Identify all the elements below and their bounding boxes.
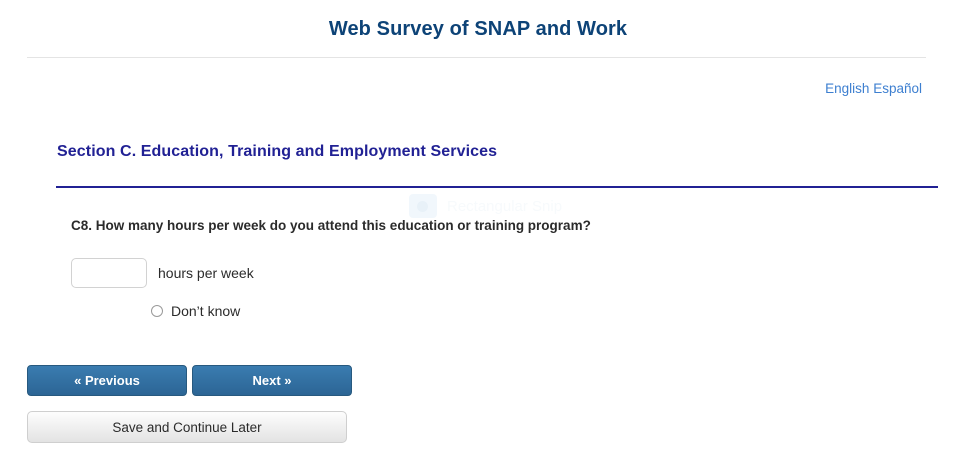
- section-heading: Section C. Education, Training and Emplo…: [57, 143, 497, 161]
- hours-per-week-label: hours per week: [158, 265, 254, 281]
- hours-per-week-input[interactable]: [71, 258, 147, 288]
- language-link-spanish[interactable]: Español: [873, 81, 922, 96]
- language-link-english[interactable]: English: [825, 81, 869, 96]
- answer-row: hours per week: [71, 258, 254, 288]
- question-text: C8. How many hours per week do you atten…: [71, 218, 591, 233]
- page-title: Web Survey of SNAP and Work: [0, 18, 956, 41]
- section-divider: [56, 186, 938, 188]
- next-button[interactable]: Next »: [192, 365, 352, 396]
- snip-watermark-label: Rectangular Snip: [447, 198, 562, 215]
- save-and-continue-later-button[interactable]: Save and Continue Later: [27, 411, 347, 443]
- snip-watermark: Rectangular Snip: [409, 193, 621, 219]
- dont-know-option[interactable]: Don’t know: [151, 303, 240, 319]
- dont-know-radio[interactable]: [151, 305, 163, 317]
- language-bar: English Español: [825, 81, 922, 96]
- previous-button[interactable]: « Previous: [27, 365, 187, 396]
- dont-know-label: Don’t know: [171, 303, 240, 319]
- snip-tool-icon: [409, 194, 437, 218]
- header-divider: [27, 57, 926, 58]
